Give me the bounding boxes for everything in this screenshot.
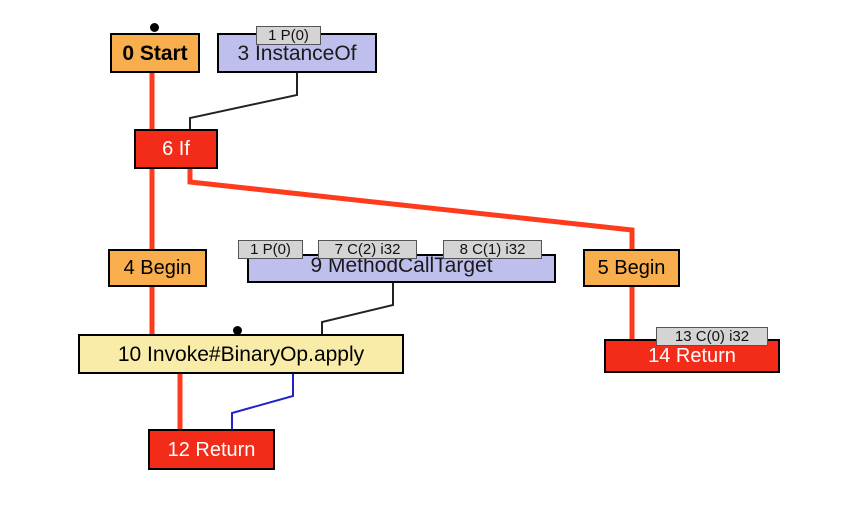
node-6-if[interactable]: 6 If [134, 129, 218, 169]
port-tag-label: 7 C(2) i32 [335, 242, 401, 257]
anchor-dot-invoke[interactable] [233, 326, 242, 335]
node-label: 14 Return [642, 346, 742, 366]
node-label: 4 Begin [118, 258, 198, 278]
node-label: 10 Invoke#BinaryOp.apply [112, 344, 370, 365]
port-tag-9-input-8[interactable]: 8 C(1) i32 [443, 240, 542, 259]
node-label: 12 Return [162, 440, 262, 460]
node-label: 6 If [156, 139, 196, 159]
edge-if-to-begin5 [190, 169, 632, 249]
port-tag-14-input-13[interactable]: 13 C(0) i32 [656, 327, 768, 346]
port-tag-9-input-1[interactable]: 1 P(0) [238, 240, 303, 259]
node-12-return[interactable]: 12 Return [148, 429, 275, 470]
node-label: 3 InstanceOf [231, 43, 362, 64]
anchor-dot-start[interactable] [150, 23, 159, 32]
edge-invoke-to-return12-assoc [232, 374, 293, 429]
edge-instanceof-to-if [190, 73, 297, 129]
port-tag-3-input-1[interactable]: 1 P(0) [256, 26, 321, 45]
port-tag-9-input-7[interactable]: 7 C(2) i32 [318, 240, 417, 259]
node-label: 5 Begin [592, 258, 672, 278]
port-tag-label: 8 C(1) i32 [460, 242, 526, 257]
graph-canvas[interactable]: 0 Start 3 InstanceOf 6 If 4 Begin 9 Meth… [0, 0, 866, 514]
node-label: 0 Start [116, 43, 193, 64]
port-tag-label: 1 P(0) [268, 28, 309, 43]
edge-methodcalltarget-to-invoke [322, 283, 393, 334]
node-10-invoke[interactable]: 10 Invoke#BinaryOp.apply [78, 334, 404, 374]
node-5-begin[interactable]: 5 Begin [583, 249, 680, 287]
node-0-start[interactable]: 0 Start [110, 33, 200, 73]
port-tag-label: 13 C(0) i32 [675, 329, 749, 344]
port-tag-label: 1 P(0) [250, 242, 291, 257]
node-4-begin[interactable]: 4 Begin [108, 249, 207, 287]
